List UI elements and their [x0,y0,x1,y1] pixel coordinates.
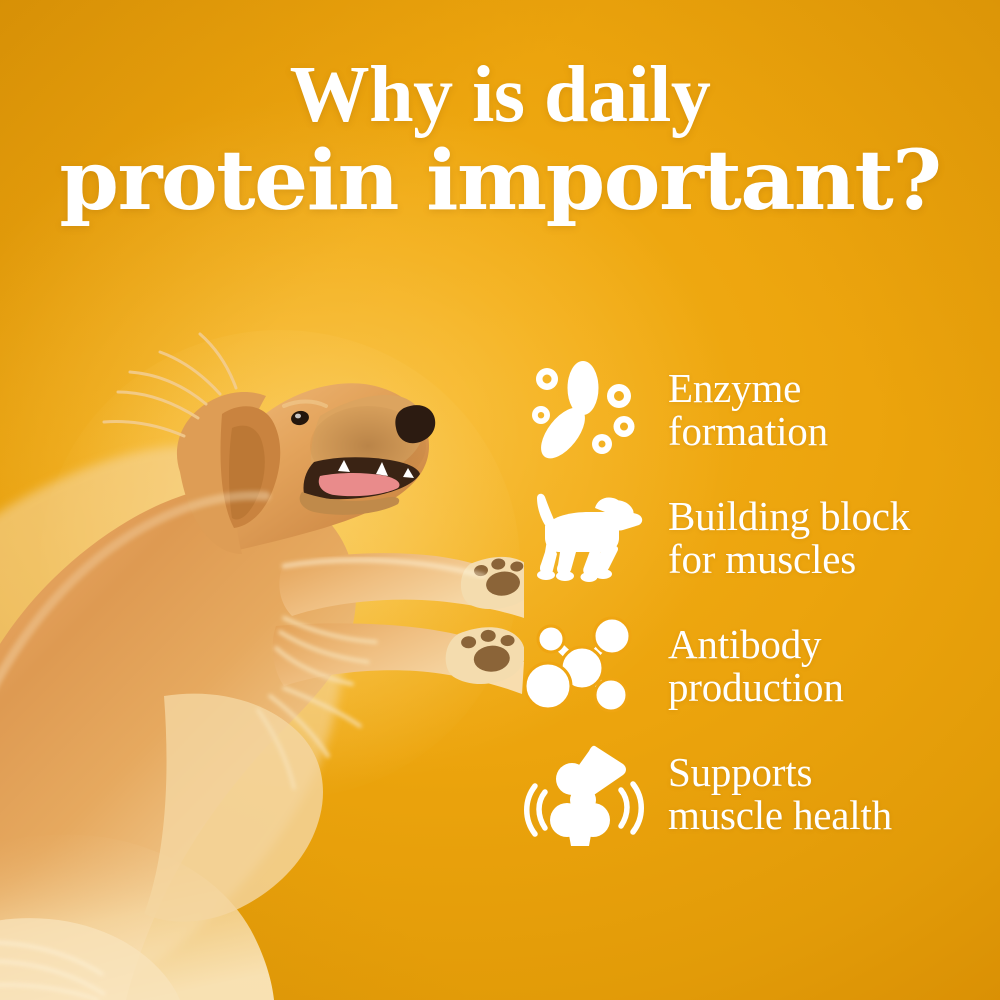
dog-backlight-glow [40,330,520,800]
benefit-label-muscle-health: Supports muscle health [668,751,892,838]
list-item-building-block: Building block for muscles [520,474,990,602]
enzyme-icon [520,354,650,466]
headline-line-1: Why is daily [0,56,1000,134]
protein-benefits-poster: Why is daily protein important? [0,0,1000,1000]
benefit-label-antibody-production: Antibody production [668,623,844,710]
molecule-icon [520,610,650,722]
list-item-muscle-health: Supports muscle health [520,730,990,858]
benefit-label-building-block: Building block for muscles [668,495,910,582]
joint-bone-icon [520,738,650,850]
headline-line-2: protein important? [0,140,1000,222]
benefit-label-enzyme-formation: Enzyme formation [668,367,828,454]
list-item-enzyme-formation: Enzyme formation [520,346,990,474]
list-item-antibody-production: Antibody production [520,602,990,730]
benefits-list: Enzyme formation [520,346,990,858]
dog-photo [0,296,524,1000]
dog-icon [520,482,650,594]
page-title: Why is daily protein important? [0,56,1000,222]
